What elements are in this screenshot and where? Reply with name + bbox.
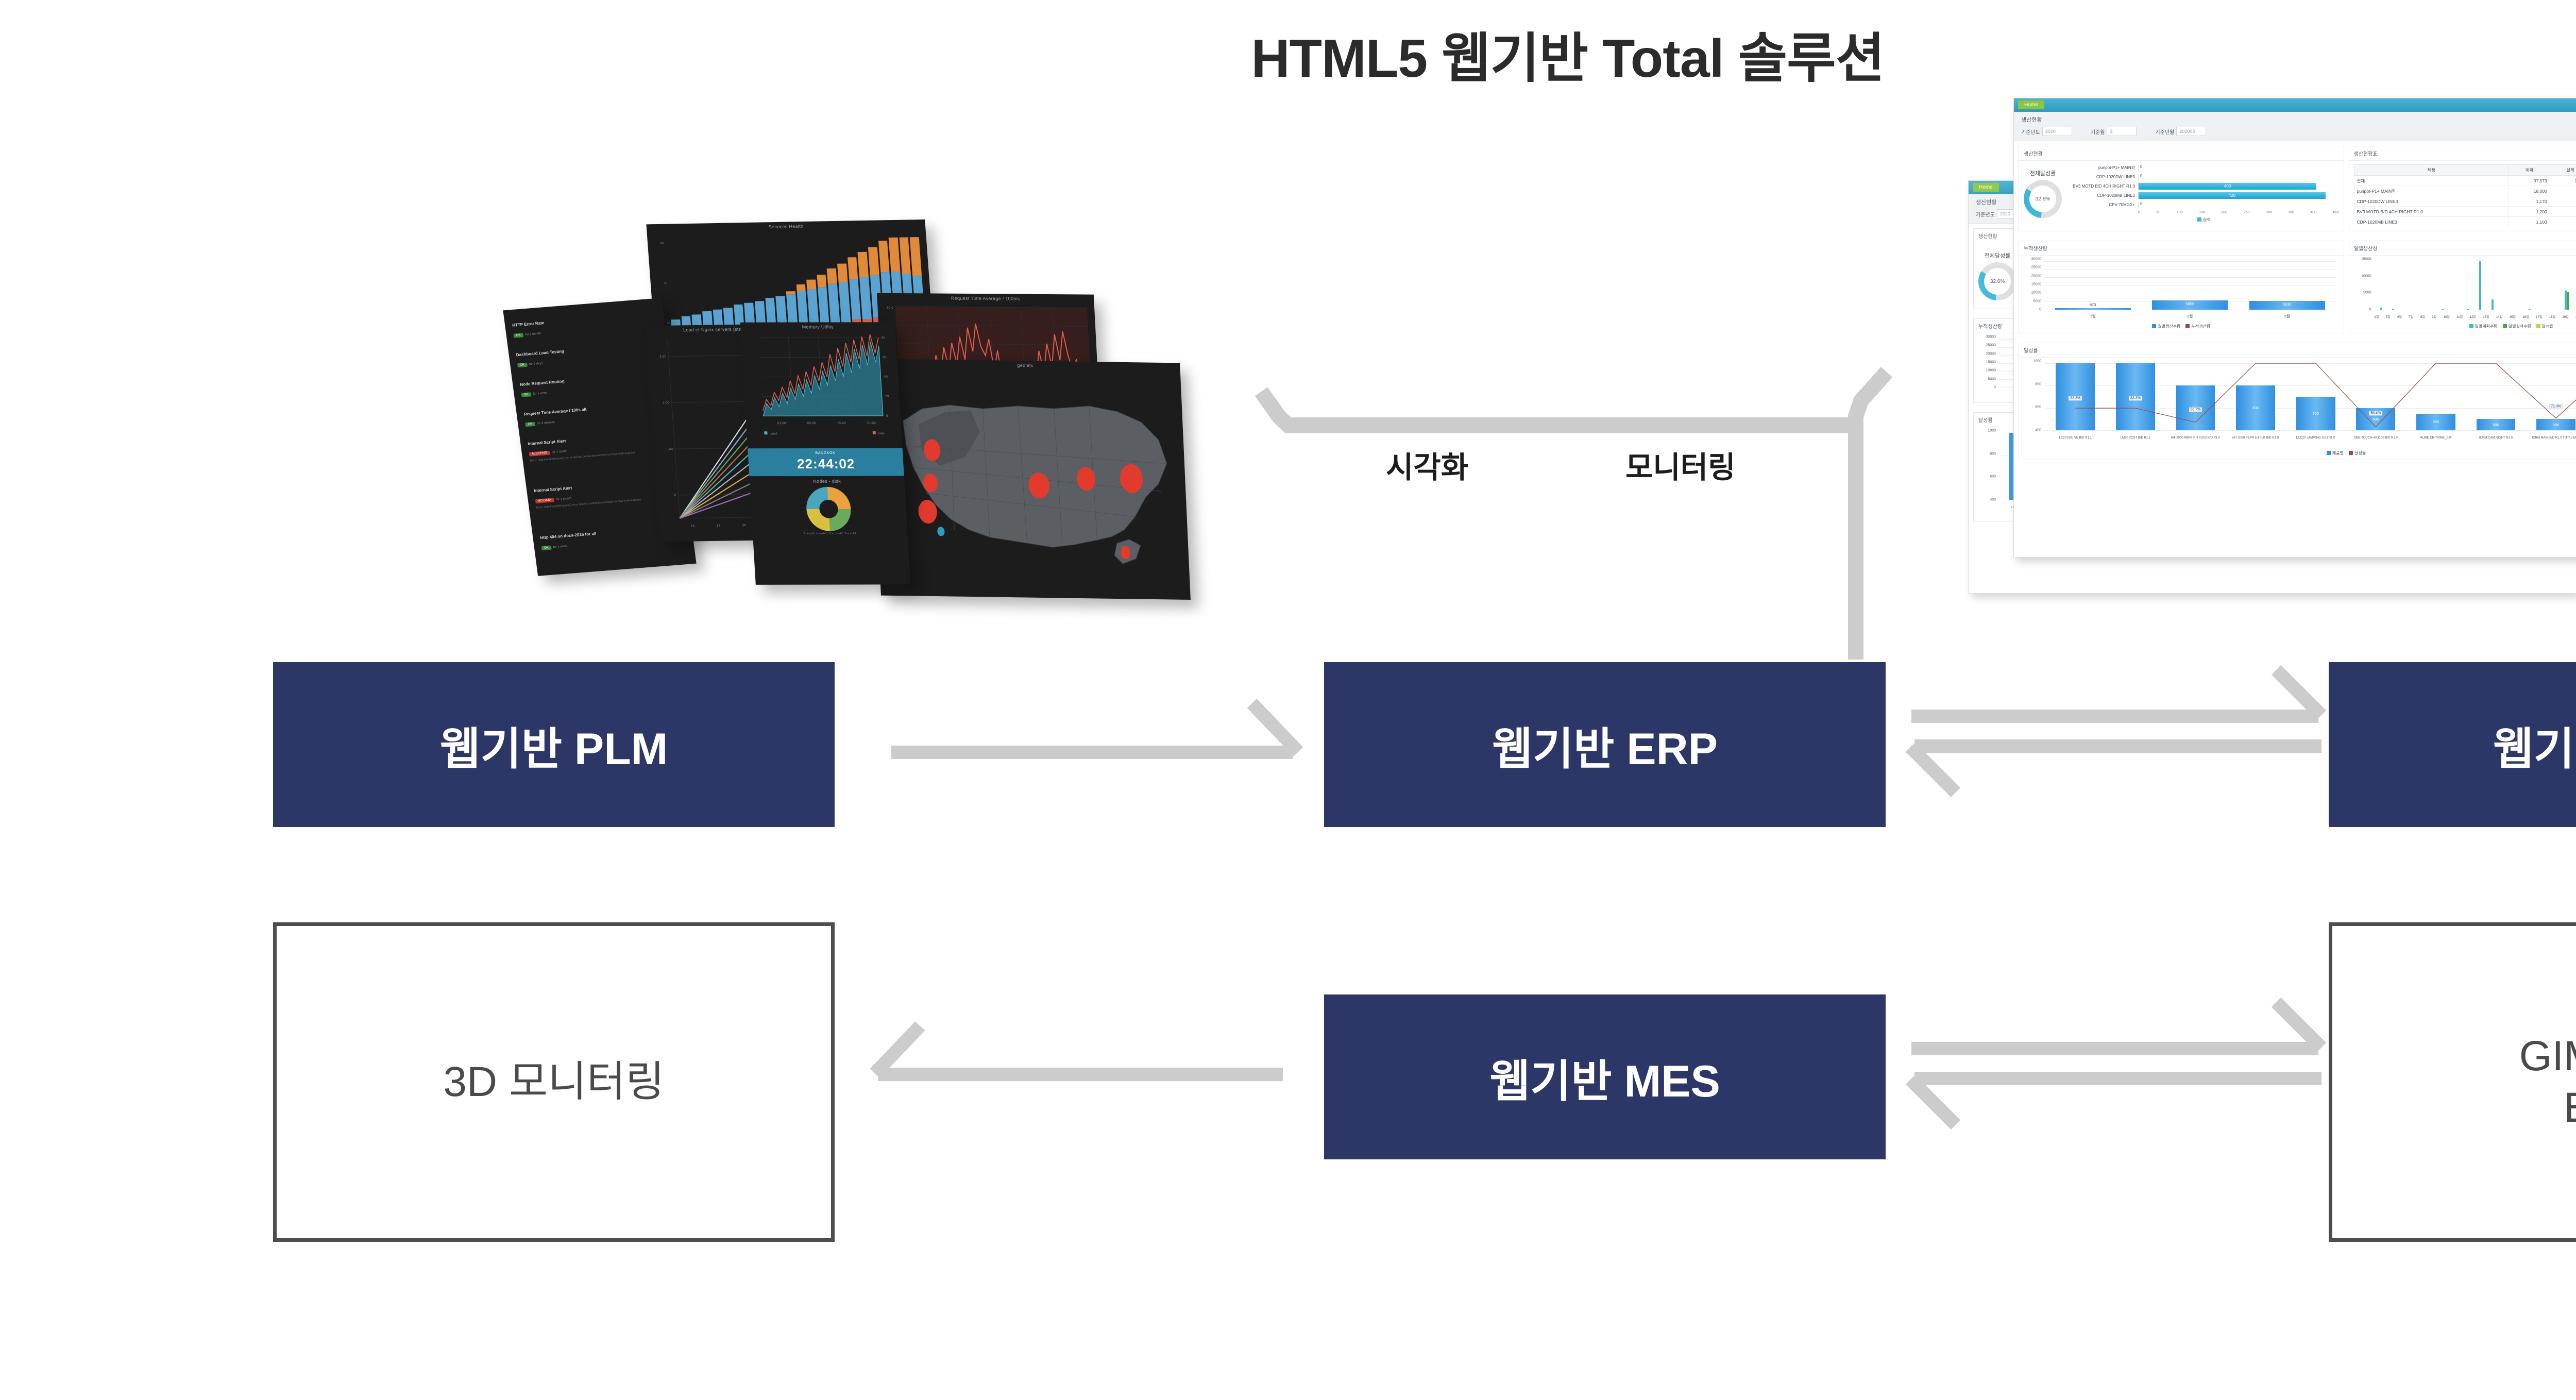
tick: 8일	[2420, 314, 2425, 319]
box-web-scm[interactable]: 웹기반 SCM	[2329, 662, 2576, 827]
day-slot	[2436, 261, 2449, 310]
legend-label: 월별생산수량	[2158, 324, 2180, 329]
bar-segment	[828, 284, 840, 323]
svg-text:21:00: 21:00	[867, 421, 876, 425]
hbar-xticks: 050100150200250300350400450	[2069, 211, 2339, 214]
hbar-label: CDP-1020MB LINE3	[2069, 193, 2138, 198]
table-cell: 12,265	[2550, 176, 2576, 186]
box-label: 웹기반 PLM	[440, 713, 668, 777]
bar-segment	[818, 288, 829, 327]
tick: 800	[1990, 452, 1996, 456]
svg-text:20: 20	[742, 524, 746, 527]
legend-label: 달성율	[2354, 451, 2366, 456]
bar-segment	[878, 241, 889, 272]
column-header: 계획	[2509, 165, 2550, 176]
day-slot	[2375, 261, 2387, 310]
arrow-visualization-monitoring	[1257, 371, 1906, 670]
tick: 0	[1994, 386, 1996, 390]
card-row-1: 생산현황 전체달성률 32.6% puripot-P1+ MAIN외0CDP-1…	[2014, 141, 2576, 236]
tick: 11일	[2456, 314, 2463, 319]
tick: 400	[1990, 498, 1996, 502]
box-gimac-b-ems[interactable]: GIMAC-B EMS	[2329, 922, 2576, 1242]
trend-line	[2045, 363, 2576, 430]
tick: 250	[2244, 211, 2250, 214]
alert-since: for 2 days	[529, 362, 543, 366]
tick: 10000	[1986, 369, 1996, 373]
table-cell: 18,000	[2509, 186, 2550, 196]
day-slot	[2399, 261, 2412, 310]
tick: 25000	[2031, 266, 2041, 269]
legend-label: 일별계획수량	[2475, 324, 2498, 329]
table-cell: 400	[2550, 207, 2576, 217]
us-map-svg	[870, 359, 1191, 600]
svg-text:15:00: 15:00	[837, 421, 846, 425]
tick: 0	[2138, 211, 2140, 214]
filter-label: 기준월	[2091, 128, 2105, 136]
legend-label: 실적	[2203, 217, 2211, 222]
home-tab[interactable]: Home	[1973, 183, 1999, 192]
erp-window-foreground: Home 생산현황 기준년도2020기준월3기준년월202003 생산현황 전체…	[2013, 98, 2576, 558]
filter-기준월[interactable]: 기준월3	[2091, 127, 2137, 136]
filter-value[interactable]: 202003	[2176, 127, 2206, 136]
memory-chart-svg: 8060 4020 0 03:0009:00 15:0021:00 used m…	[740, 322, 903, 446]
hbar-zero: 0	[2139, 201, 2142, 206]
day-slot	[2523, 261, 2536, 310]
box-label: 웹기반 MES	[1489, 1045, 1720, 1109]
achievement-gauge: 32.6%	[1977, 261, 2018, 302]
day-slot	[2549, 261, 2561, 310]
table-cell: 0	[2550, 196, 2576, 207]
box-label: 웹기반 ERP	[1492, 713, 1718, 777]
gridline	[2045, 430, 2576, 431]
bar-segment	[827, 268, 837, 284]
clock-panel: BANGKOK 22:44:02	[748, 448, 904, 476]
tick: 600	[2035, 406, 2041, 409]
production-table: 제품계획실적차이라인전체37,57312,26525,308puripot-P1…	[2354, 164, 2576, 227]
hbar-track: 400	[2138, 183, 2339, 190]
bar-segment	[837, 263, 848, 282]
table-cell: CDP-1020MB LINE3	[2354, 217, 2509, 227]
day-slot	[2474, 261, 2486, 310]
hbar-zero: 0	[2139, 174, 2142, 178]
tick: 5000	[2363, 291, 2371, 295]
tick: 30000	[1986, 335, 1996, 339]
tick: 25000	[1986, 344, 1996, 347]
alert-state-badge: OK	[541, 546, 552, 550]
card-cumulative-production: 누적생산량 3000025000200001500010000500008735…	[2019, 241, 2344, 333]
alert-since: for 4 minutes	[537, 421, 555, 426]
svg-text:max: max	[878, 432, 885, 435]
day-slot	[2573, 261, 2576, 310]
card-title: 생산현황	[2019, 146, 2344, 161]
hbar-fill: 420	[2139, 192, 2326, 199]
panel-title: Services Health	[647, 222, 925, 231]
hbar-row: CDP-1020DW LINE30	[2069, 174, 2339, 180]
tick: 18일	[2549, 314, 2555, 319]
percent-label: 83.3%	[2129, 396, 2142, 401]
tick: 600	[1990, 475, 1996, 479]
filter-value[interactable]: 3	[2107, 127, 2137, 136]
bar-segment	[796, 284, 806, 291]
box-web-plm[interactable]: 웹기반 PLM	[273, 662, 835, 827]
tick: 14일	[2496, 314, 2502, 319]
tick: DLC20 JAMMING LED R1.0	[2285, 436, 2346, 440]
donut-title: Nodes - disk	[750, 479, 905, 484]
table-cell: CDP-1020DW LINE3	[2354, 196, 2509, 207]
column-header: 제품	[2354, 165, 2509, 176]
home-tab[interactable]: Home	[2018, 100, 2044, 109]
arrow-erp-scm-bidirectional[interactable]	[1906, 685, 2339, 809]
clock-title: BANGKOK	[748, 448, 903, 456]
hbar-label: CDP-1020DW LINE3	[2069, 175, 2138, 179]
tick: 1월	[2090, 313, 2096, 319]
legend-label: 달성율	[2542, 324, 2553, 329]
day-slot	[2462, 261, 2474, 310]
box-web-erp[interactable]: 웹기반 ERP	[1324, 662, 1886, 827]
tick: 300	[2266, 211, 2272, 214]
table-row[interactable]: puripot-P1+ MAIN외18,000018,000D라인	[2354, 186, 2576, 196]
alert-state-badge: ALERTING	[529, 451, 550, 457]
tick: 1000	[1988, 429, 1996, 433]
page-title: HTML5 웹기반 Total 솔루션	[0, 14, 2576, 92]
percent-label: 83.3%	[2069, 396, 2082, 401]
daily-chart: 1500010000500001005004일5일6일7일8일9일10일11일1…	[2354, 259, 2576, 321]
svg-text:09:00: 09:00	[807, 421, 816, 425]
svg-text:1.00: 1.00	[666, 447, 673, 451]
cumulative-chart: 3000025000200001500010000500008735856553…	[2024, 259, 2339, 321]
plan-bar	[2392, 309, 2394, 310]
plan-bar	[2467, 309, 2469, 310]
svg-text:0: 0	[886, 414, 888, 418]
bar: 5856	[2152, 300, 2228, 310]
alert-since: for 1 month	[525, 332, 541, 336]
card-title: 생산현황표	[2349, 146, 2576, 161]
actual-bar	[2567, 292, 2569, 310]
bar-value: 873	[2090, 302, 2096, 307]
bar-segment	[899, 237, 911, 274]
tick: 15000	[2361, 258, 2371, 261]
tick: 19일	[2563, 314, 2569, 319]
alert-since: for 1 month	[552, 450, 568, 454]
alert-state-badge: OK	[521, 392, 532, 397]
table-row[interactable]: CDP-1020MB LINE31,100420680C라인	[2354, 217, 2576, 227]
percent-label: 71.4%	[2549, 404, 2563, 409]
chart-legend: 일별계획수량 일별실적수량 달성율	[2354, 324, 2576, 329]
table-row[interactable]: 전체37,57312,26525,308	[2354, 176, 2576, 186]
svg-text:18: 18	[716, 524, 720, 528]
day-slot	[2387, 261, 2399, 310]
hbar-row: BV3 MOTD B/D 4CH RIGHT R1.0400	[2069, 183, 2339, 190]
y-axis: 150001000050000	[2354, 259, 2372, 310]
card-daily-productivity: 일별생산성 1500010000500001005004일5일6일7일8일9일1…	[2349, 241, 2576, 333]
alert-row: Request Time Average / 100s altOKfor 4 m…	[523, 400, 671, 428]
legend-label: 누적생산량	[2191, 324, 2210, 329]
chart-legend: 실적	[2069, 217, 2339, 223]
tick: 16일	[2522, 314, 2529, 319]
card-production-table: 생산현황표 제품계획실적차이라인전체37,57312,26525,308puri…	[2349, 146, 2576, 231]
tick: 4일	[2375, 314, 2379, 319]
alert-row: HTTP Error RateOKfor 1 month	[512, 312, 659, 339]
bar-segment	[859, 277, 872, 319]
bar-segment	[889, 238, 901, 272]
svg-text:40: 40	[884, 375, 888, 379]
tick: 4LINE CR-700ML_EM	[2406, 436, 2466, 440]
plan-bar	[2442, 309, 2444, 310]
gridline	[2044, 310, 2336, 310]
day-slot	[2536, 261, 2549, 310]
y-axis: 300002500020000150001000050000	[2024, 259, 2042, 310]
bar: 873	[2055, 308, 2131, 310]
x-axis: 1월2월3월	[2044, 313, 2336, 319]
svg-text:2.00: 2.00	[663, 401, 670, 405]
tick: ICRM CAM RIGHT R1.0	[2466, 436, 2526, 440]
alert-since: for 1 week	[533, 392, 547, 396]
card-title: 달성률	[2019, 343, 2576, 358]
dark-dashboard-collage: Services Health 100806040200 02:0006:001…	[520, 222, 1185, 603]
tick: 15000	[1986, 361, 1996, 364]
box-web-mes[interactable]: 웹기반 MES	[1324, 994, 1886, 1159]
tick: 0	[2039, 308, 2041, 312]
table-cell: puripot-P1+ MAIN외	[2354, 186, 2509, 196]
table-row[interactable]: CDP-1020DW LINE31,17001,170C라인	[2354, 196, 2576, 207]
tick: LC20 ISIU VE B/D R1.1	[2045, 436, 2106, 440]
y-axis: 1000800600400	[1978, 431, 1997, 500]
day-slot	[2511, 261, 2523, 310]
tick: 9일	[2432, 314, 2436, 319]
tick: 200	[2221, 211, 2227, 214]
table-cell: 420	[2550, 217, 2576, 227]
bar: 5536	[2249, 301, 2325, 310]
tick: 2월	[2187, 313, 2193, 319]
table-row[interactable]: BV3 MOTD B/D 4CH RIGHT R1.01,200400800D라…	[2354, 207, 2576, 217]
svg-text:3.00: 3.00	[659, 355, 667, 359]
svg-text:03:00: 03:00	[777, 421, 786, 425]
hbar-label: CPV-70MGX+	[2069, 203, 2138, 207]
filter-value[interactable]: 2020	[2042, 127, 2072, 136]
tick: 100	[2177, 211, 2183, 214]
filter-label: 기준년도	[2021, 128, 2040, 136]
table-cell: 전체	[2354, 176, 2509, 186]
table-cell: 1,200	[2509, 207, 2550, 217]
achievement-gauge: 32.6%	[2022, 178, 2063, 220]
plan-bar	[2492, 299, 2494, 310]
horizontal-bar-chart: puripot-P1+ MAIN외0CDP-1020DW LINE30BV3 M…	[2069, 164, 2339, 223]
card-production-status: 생산현황 전체달성률 32.6% puripot-P1+ MAIN외0CDP-1…	[2019, 146, 2344, 231]
tick: 0	[2369, 308, 2371, 312]
hbar-fill: 400	[2139, 183, 2316, 190]
alert-state-badge: OK	[513, 333, 523, 338]
bars	[2375, 261, 2576, 310]
svg-text:20: 20	[885, 395, 889, 398]
tick: 10000	[2361, 274, 2371, 278]
filter-label: 기준년월	[2155, 128, 2174, 136]
hbar-track: 0	[2138, 201, 2339, 208]
alert-state-badge: OK	[517, 363, 528, 367]
alert-since: for 1 month	[556, 497, 572, 501]
gauge-caption: 전체달성률	[1978, 251, 2016, 260]
tick: 400	[2035, 429, 2041, 432]
hbar-track: 0	[2138, 164, 2339, 171]
card-row-2: 누적생산량 3000025000200001500010000500008735…	[2014, 236, 2576, 338]
tick: 800	[2035, 382, 2041, 386]
box-label: 웹기반 SCM	[2493, 713, 2576, 777]
box-label-line2: EMS	[2519, 1082, 2576, 1134]
legend-label: 제품별	[2332, 451, 2344, 456]
connector-label-visualization: 시각화	[1386, 443, 1468, 486]
filter-row: 기준년도2020기준월3기준년월202003	[2021, 127, 2576, 136]
table-cell: BV3 MOTD B/D 4CH RIGHT R1.0	[2354, 207, 2509, 217]
bar-segment	[807, 289, 819, 327]
day-slot	[2561, 261, 2573, 310]
svg-text:60: 60	[883, 356, 887, 359]
alert-state-badge: OK	[525, 422, 535, 427]
filter-기준년월[interactable]: 기준년월202003	[2155, 127, 2206, 136]
tick: 15일	[2510, 314, 2516, 319]
tick: IAT-2000 PBPR LH FLK B/D R1.0	[2226, 436, 2286, 440]
erp-dashboard-screenshots: Home 생산현황 기준년도2020기준월3기준년월202003 생산현황 전체…	[1968, 98, 2576, 618]
tick: 12일	[2470, 314, 2476, 319]
tick: 50	[2156, 211, 2160, 214]
hbar-row: CPV-70MGX+0	[2069, 201, 2339, 208]
tick: 10일	[2444, 314, 2450, 319]
card-title: 누적생산량	[2019, 241, 2344, 256]
bar-segment	[849, 279, 861, 319]
hbar-row: puripot-P1+ MAIN외0	[2069, 164, 2339, 171]
table-cell: 1,170	[2509, 196, 2550, 207]
table-header-row: 제품계획실적차이라인	[2354, 165, 2576, 176]
svg-text:80: 80	[882, 336, 886, 340]
hbar-track: 0	[2138, 174, 2339, 180]
hbar-track: 420	[2138, 192, 2339, 199]
tick: 150	[2199, 211, 2205, 214]
gauge-caption: 전체달성률	[2024, 169, 2062, 177]
day-slot	[2424, 261, 2436, 310]
hbar-label: puripot-P1+ MAIN외	[2069, 165, 2138, 171]
legend-label: 일별실적수량	[2509, 324, 2531, 329]
tick: 20000	[1986, 352, 1996, 356]
day-slot	[2486, 261, 2499, 310]
day-slot	[2499, 261, 2511, 310]
plan-bar	[2529, 309, 2531, 310]
arrow-plm-to-erp[interactable]	[891, 698, 1324, 796]
plan-bar	[2380, 308, 2382, 310]
gauge-value: 32.6%	[1978, 262, 2016, 300]
y-axis: 1000800600400	[2024, 361, 2042, 430]
tick: IAT-2000 PBPR RH FLKG B/D R1.0	[2165, 436, 2226, 440]
alert-row: Node Request RoutingOKfor 1 week	[520, 371, 667, 398]
bars: 87358565536	[2044, 261, 2336, 310]
bar-segment	[868, 247, 879, 276]
percent-label: 66.7%	[2189, 408, 2202, 412]
tick: ICRM MAIN B/D R1.0 TOTAL-EDR	[2526, 436, 2576, 440]
tick: 15000	[2031, 283, 2041, 286]
table-cell: 1,100	[2509, 217, 2550, 227]
bar-segment	[848, 257, 858, 279]
arrow-mes-ems-bidirectional[interactable]	[1906, 1018, 2339, 1146]
percent-label: 59.4%	[2369, 411, 2382, 416]
svg-text:60 s: 60 s	[887, 306, 893, 310]
tick: LM20 YCST B/D R1.1	[2106, 436, 2166, 440]
alert-since: for 1 week	[553, 545, 568, 549]
filter-기준년도[interactable]: 기준년도2020	[2021, 127, 2072, 136]
svg-text:16: 16	[690, 525, 694, 528]
box-label-line1: GIMAC-B	[2519, 1031, 2576, 1082]
chart-legend: 월별생산수량 누적생산량	[2024, 324, 2339, 329]
chart-legend: 제품별 달성율	[2024, 450, 2576, 456]
bar-value: 5856	[2185, 301, 2194, 306]
connector-label-monitoring: 모니터링	[1625, 443, 1735, 486]
filter-bar: 생산현황 기준년도2020기준월3기준년월202003	[2014, 112, 2576, 141]
panel-memory-clock-donut: Memory Utility 8060 4020 0 03:0009:00 15…	[740, 322, 911, 585]
card-title: 일별생산성	[2349, 241, 2576, 256]
tick: 30000	[2031, 258, 2041, 261]
x-axis: LC20 ISIU VE B/D R1.1LM20 YCST B/D R1.1I…	[2045, 436, 2576, 440]
tick: SM2-TOUCH-AR1100 B/D R1.0	[2346, 436, 2406, 440]
svg-text:used: used	[769, 432, 777, 435]
box-label: 3D 모니터링	[443, 1056, 664, 1108]
donut-chart	[805, 487, 852, 531]
day-slot	[2412, 261, 2424, 310]
achievement-chart: 1000800600400100010008008007006005505005…	[2024, 361, 2576, 448]
hbar-label: BV3 MOTD B/D 4CH RIGHT R1.0	[2069, 184, 2138, 189]
gauge-value: 32.6%	[2024, 180, 2062, 218]
column-header: 실적	[2550, 165, 2576, 176]
tick: 450	[2333, 211, 2339, 214]
panel-geohits-map: geohits	[870, 359, 1191, 600]
bar-value: 5536	[2283, 302, 2292, 307]
y-axis: 300002500020000150001000050000	[1978, 337, 1997, 387]
plan-bar	[2479, 261, 2481, 310]
box-3d-monitoring[interactable]: 3D 모니터링	[273, 922, 835, 1242]
panel-title: Memory Utility	[740, 324, 895, 330]
card-achievement-rate: 달성률 100080060040010001000800800700600550…	[2019, 343, 2576, 460]
tick: 6일	[2397, 314, 2402, 319]
clock-value: 22:44:02	[748, 455, 904, 476]
bar-segment	[839, 282, 851, 323]
filter-label: 기준년도	[1976, 210, 1995, 218]
tick: 350	[2288, 211, 2294, 214]
alert-state-badge: NO DATA	[535, 498, 554, 503]
tick: 17일	[2536, 314, 2542, 319]
tick: 400	[2310, 211, 2316, 214]
x-axis: 4일5일6일7일8일9일10일11일12일13일14일15일16일17일18일1…	[2375, 314, 2576, 319]
alert-row: Dashboard Load TestingOKfor 2 days	[516, 341, 663, 368]
svg-text:0: 0	[674, 494, 676, 497]
bar-segment	[817, 275, 826, 288]
tick: 13일	[2483, 314, 2489, 319]
alert-list: HTTP Error RateOKfor 1 monthDashboard Lo…	[503, 298, 661, 310]
hbar-row: CDP-1020MB LINE3420	[2069, 192, 2339, 199]
tick: 5일	[2386, 314, 2391, 319]
card-row-3: 달성률 100080060040010001000800800700600550…	[2014, 338, 2576, 465]
table-cell: 37,573	[2509, 176, 2550, 186]
table-cell: 0	[2550, 186, 2576, 196]
hbar-zero: 0	[2139, 164, 2142, 169]
tick: 20000	[2031, 274, 2041, 278]
filter-title: 생산현황	[2021, 115, 2576, 124]
bar-segment	[806, 280, 816, 290]
window-topbar: Home	[2014, 98, 2576, 112]
bar-segment	[858, 252, 869, 277]
tick: 5000	[1988, 377, 1996, 381]
plan-bar	[2565, 291, 2567, 310]
tick: 1000	[2033, 360, 2041, 363]
arrow-mes-to-3d-monitoring[interactable]	[871, 1018, 1303, 1121]
tick: 3월	[2284, 313, 2290, 319]
donut-legend: Free40 Used41 Cache42 Total43	[753, 532, 908, 535]
day-slot	[2449, 261, 2461, 310]
tick: 10000	[2031, 291, 2041, 295]
